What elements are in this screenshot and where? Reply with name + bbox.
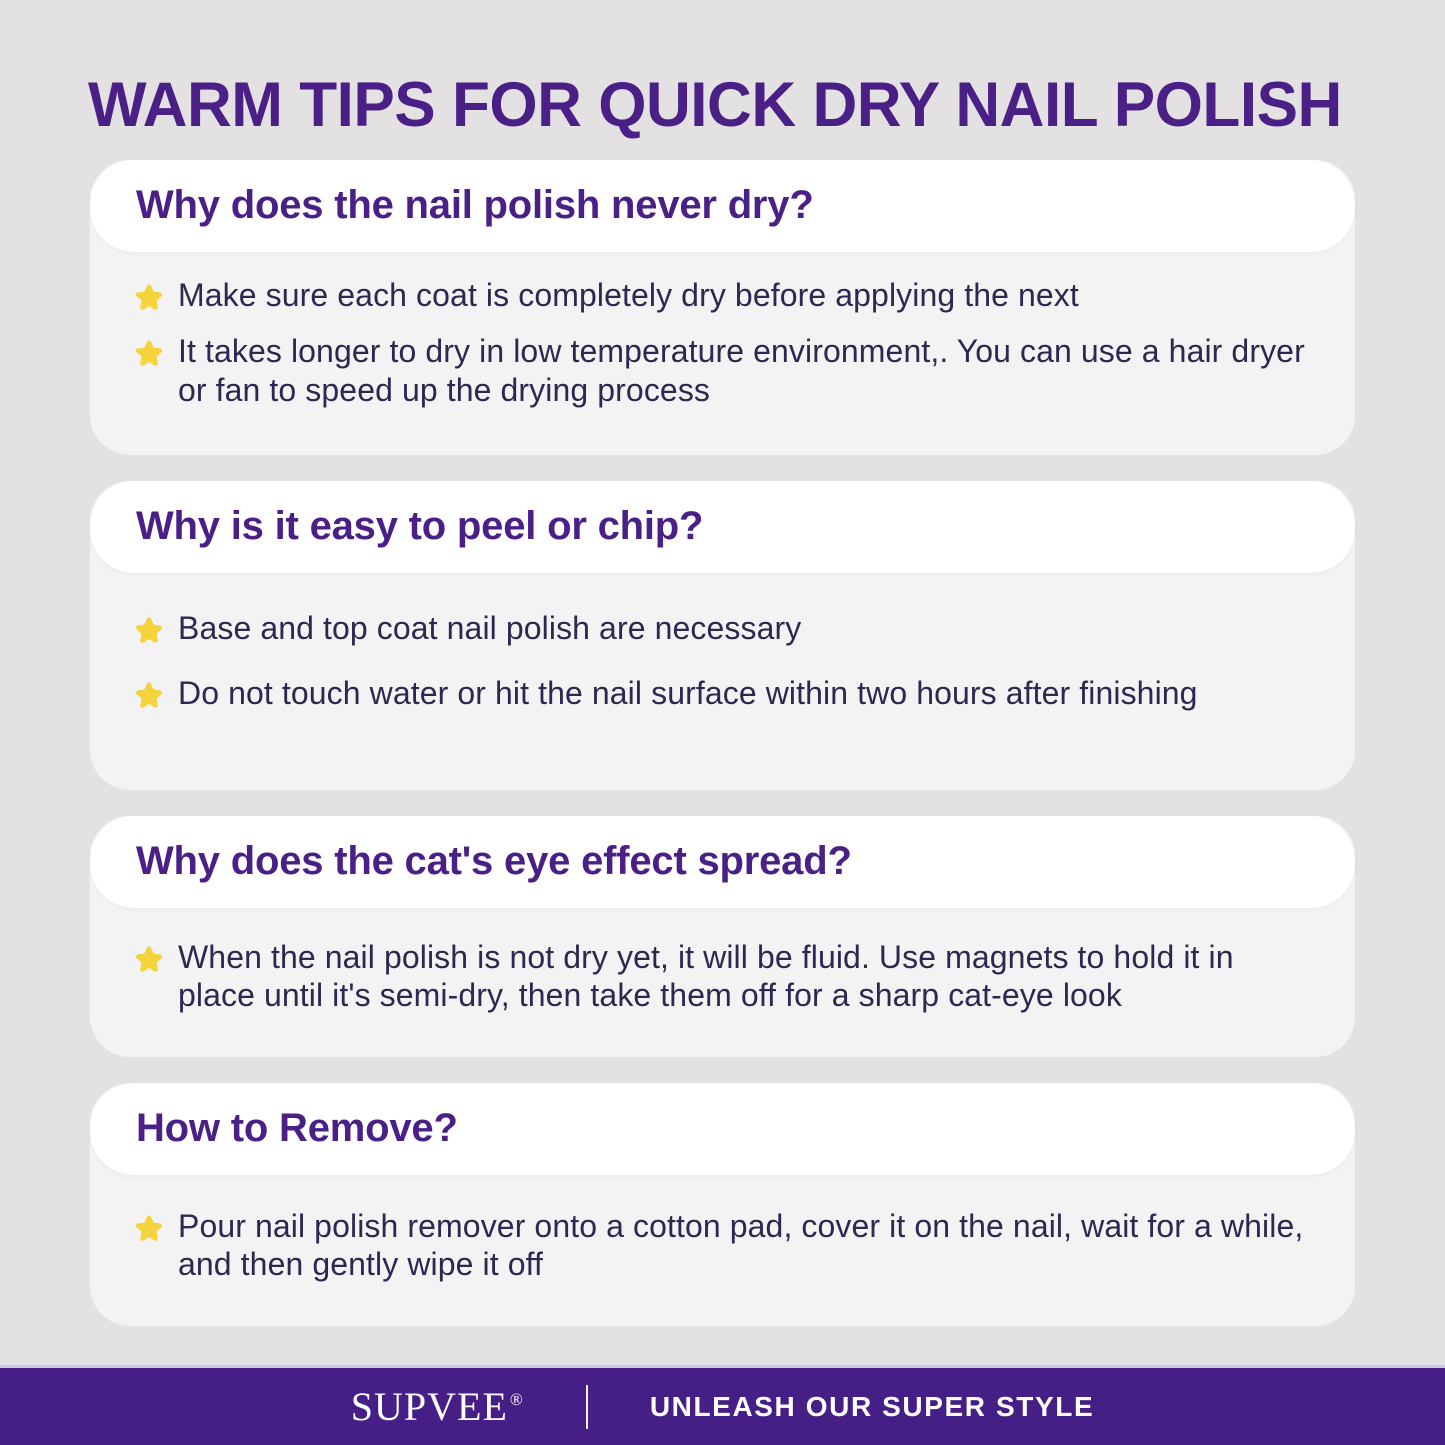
bullet-item: Pour nail polish remover onto a cotton p… [134, 1207, 1307, 1284]
bullet-text: It takes longer to dry in low temperatur… [178, 332, 1307, 409]
bullet-text: When the nail polish is not dry yet, it … [178, 938, 1307, 1015]
card-body: When the nail polish is not dry yet, it … [90, 908, 1355, 1057]
page-title: WARM TIPS FOR QUICK DRY NAIL POLISH [88, 74, 1356, 137]
bullet-text: Base and top coat nail polish are necess… [178, 609, 1307, 647]
bullet-item: Base and top coat nail polish are necess… [134, 609, 1307, 647]
tip-card: How to Remove? Pour nail polish remover … [90, 1083, 1355, 1326]
card-body: Make sure each coat is completely dry be… [90, 252, 1355, 455]
bullet-text: Do not touch water or hit the nail surfa… [178, 674, 1307, 712]
card-heading: How to Remove? [136, 1105, 1309, 1151]
star-icon [134, 1213, 164, 1243]
tip-card: Why does the cat's eye effect spread? Wh… [90, 816, 1355, 1057]
card-header: How to Remove? [90, 1083, 1355, 1175]
card-header: Why is it easy to peel or chip? [90, 481, 1355, 573]
brand-name: SUPVEE [351, 1384, 508, 1429]
bullet-item: When the nail polish is not dry yet, it … [134, 938, 1307, 1015]
card-heading: Why does the cat's eye effect spread? [136, 838, 1309, 884]
bullet-text: Pour nail polish remover onto a cotton p… [178, 1207, 1307, 1284]
star-icon [134, 680, 164, 710]
bullet-text: Make sure each coat is completely dry be… [178, 276, 1307, 314]
registered-trademark-icon: ® [510, 1390, 524, 1409]
bullet-item: Make sure each coat is completely dry be… [134, 276, 1307, 314]
brand-logo: SUPVEE® [351, 1387, 524, 1427]
bullet-item: Do not touch water or hit the nail surfa… [134, 674, 1307, 712]
footer-tagline: UNLEASH OUR SUPER STYLE [650, 1391, 1094, 1423]
tip-card: Why is it easy to peel or chip? Base and… [90, 481, 1355, 790]
card-body: Base and top coat nail polish are necess… [90, 573, 1355, 790]
page-title-container: WARM TIPS FOR QUICK DRY NAIL POLISH [0, 0, 1445, 137]
card-heading: Why is it easy to peel or chip? [136, 503, 1309, 549]
star-icon [134, 338, 164, 368]
star-icon [134, 282, 164, 312]
card-header: Why does the cat's eye effect spread? [90, 816, 1355, 908]
card-heading: Why does the nail polish never dry? [136, 182, 1309, 228]
tips-card-list: Why does the nail polish never dry? Make… [0, 160, 1445, 1365]
star-icon [134, 944, 164, 974]
star-icon [134, 615, 164, 645]
bullet-item: It takes longer to dry in low temperatur… [134, 332, 1307, 409]
tips-infographic-page: WARM TIPS FOR QUICK DRY NAIL POLISH Why … [0, 0, 1445, 1445]
footer-bar: SUPVEE® UNLEASH OUR SUPER STYLE [0, 1368, 1445, 1445]
tip-card: Why does the nail polish never dry? Make… [90, 160, 1355, 455]
vertical-divider [586, 1385, 588, 1429]
card-header: Why does the nail polish never dry? [90, 160, 1355, 252]
card-body: Pour nail polish remover onto a cotton p… [90, 1175, 1355, 1326]
